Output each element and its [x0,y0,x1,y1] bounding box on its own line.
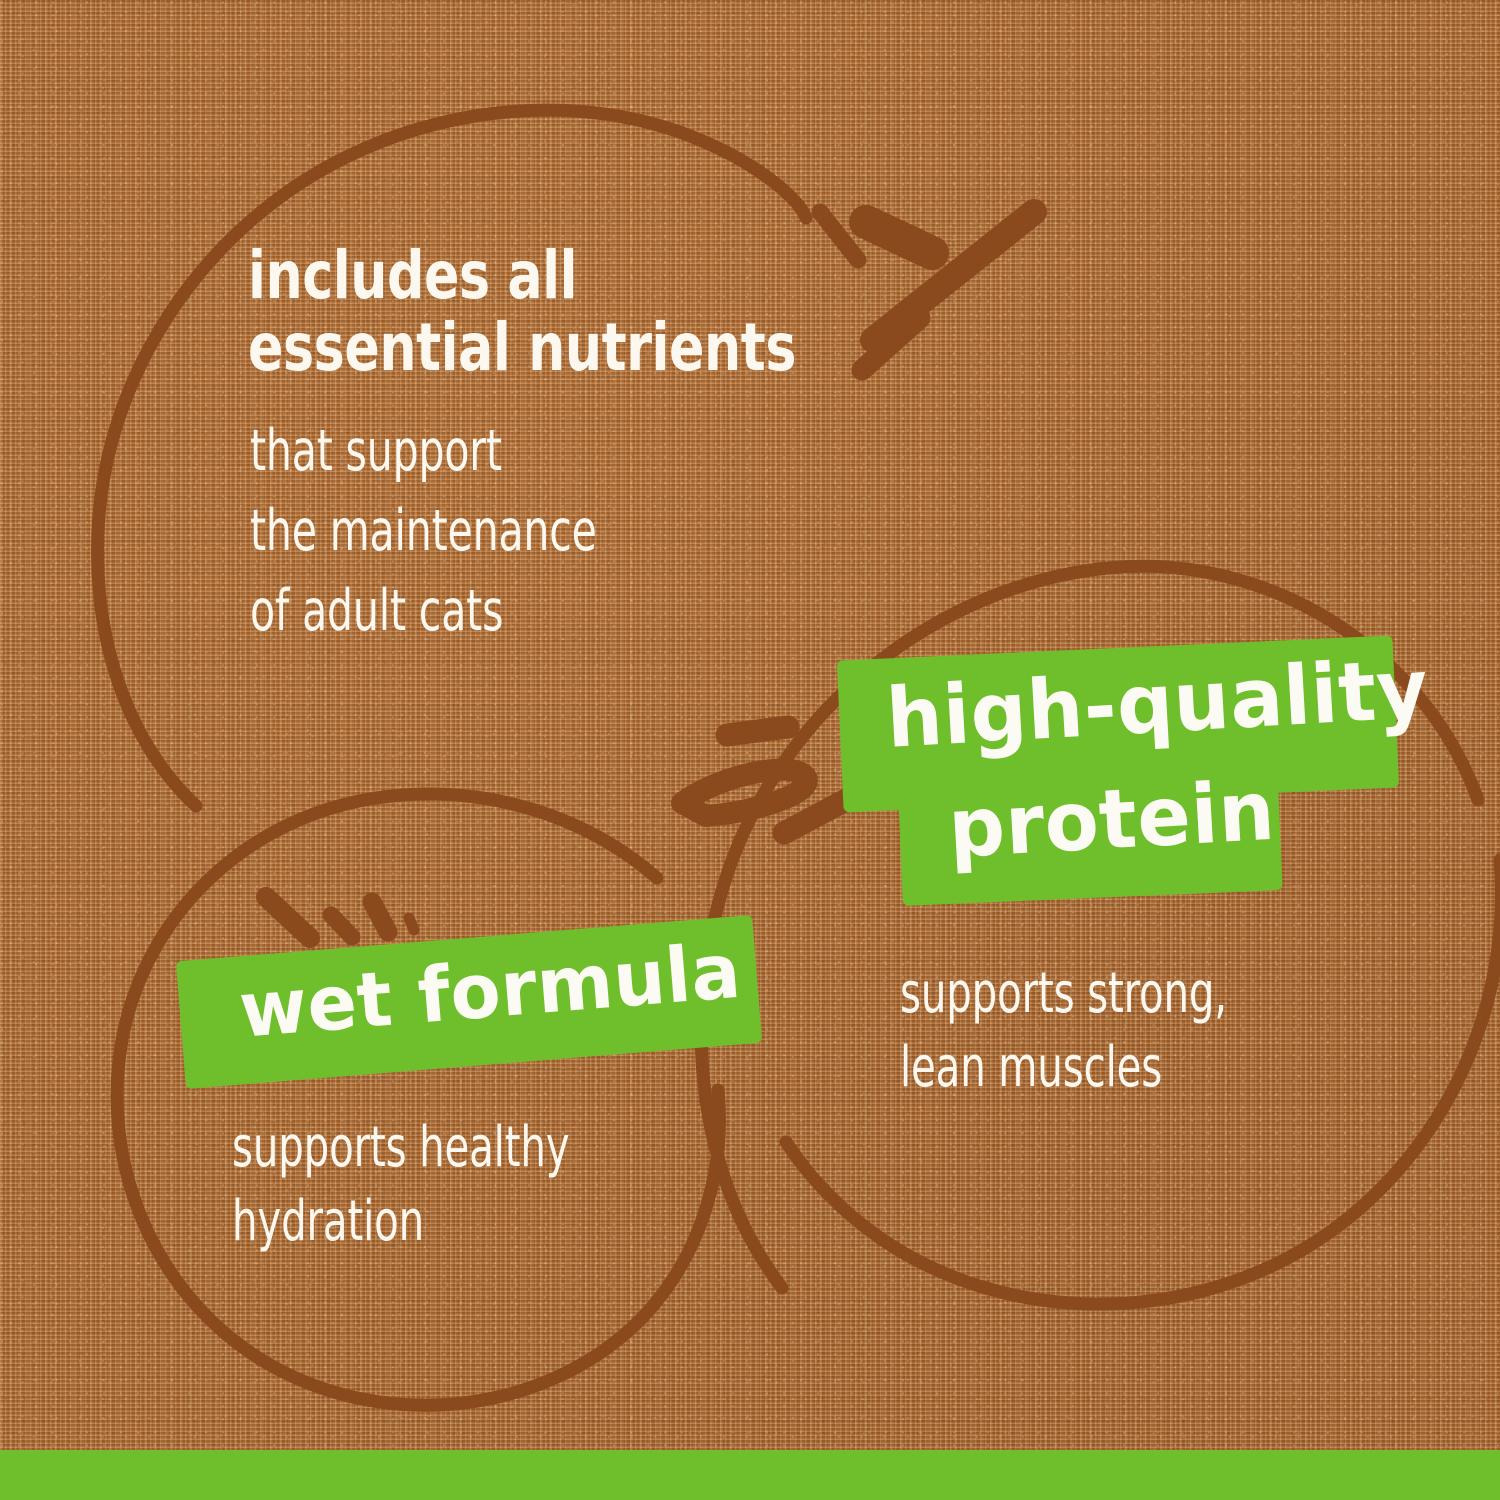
sparkle-center-icon [682,727,846,833]
nutrients-sub-line3: of adult cats [250,580,503,644]
nutrients-headline-line1: includes all [248,244,577,308]
nutrients-headline-line2: essential nutrients [248,316,796,380]
promo-graphic: includes all essential nutrients that su… [0,0,1500,1500]
wet-body-line2: hydration [232,1190,424,1254]
wet-body-line1: supports healthy [232,1116,569,1180]
nutrients-sub-line1: that support [250,420,502,484]
sparkle-wet-formula-icon [266,897,414,938]
footer-green-bar [0,1450,1500,1500]
nutrients-sub-line2: the maintenance [250,500,597,564]
sparkle-top-right-icon [820,212,1034,370]
circle-bottom-left-icon [117,794,719,1405]
protein-body-line1: supports strong, [900,962,1227,1026]
protein-body-line2: lean muscles [900,1036,1162,1100]
protein-badge-label-line2: protein [946,764,1277,877]
